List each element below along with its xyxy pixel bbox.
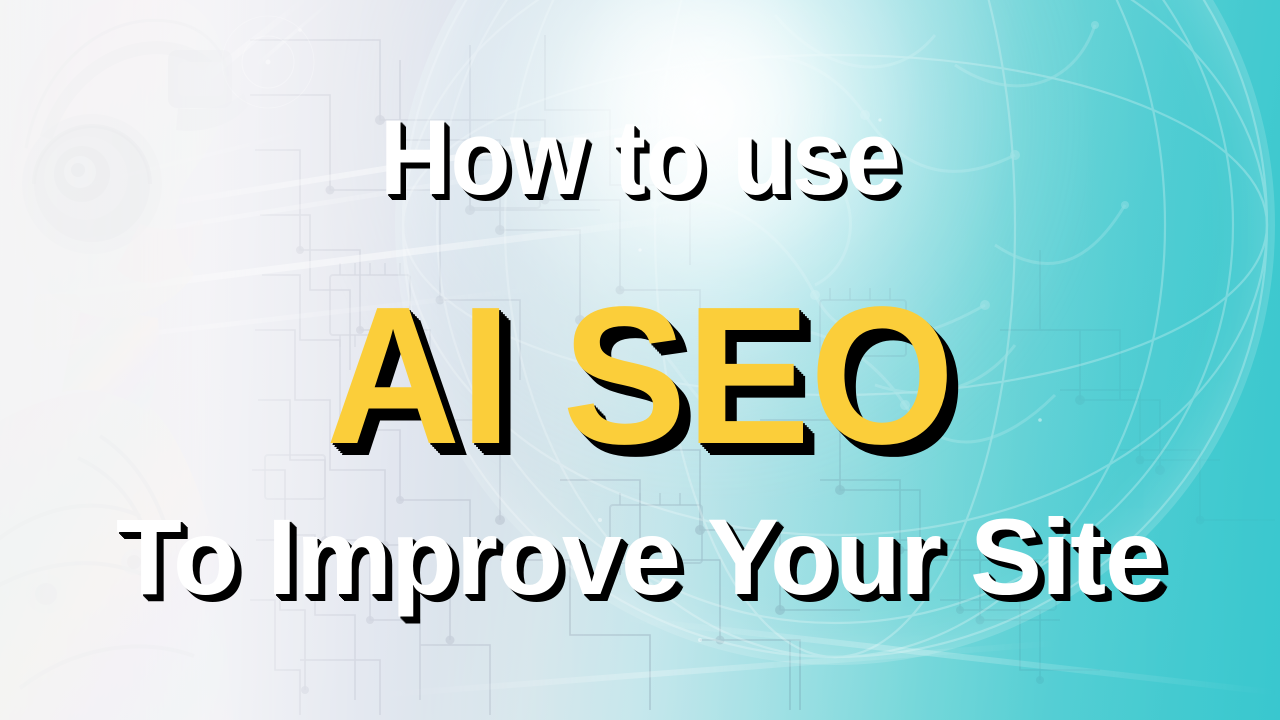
headline-line-3: To Improve Your Site <box>0 503 1280 611</box>
headline-group: How to use AI SEO To Improve Your Site <box>0 0 1280 720</box>
headline-line-1: How to use <box>51 104 1229 211</box>
headline-line-2-ai-seo: AI SEO <box>32 278 1248 474</box>
banner-canvas: How to use AI SEO To Improve Your Site <box>0 0 1280 720</box>
